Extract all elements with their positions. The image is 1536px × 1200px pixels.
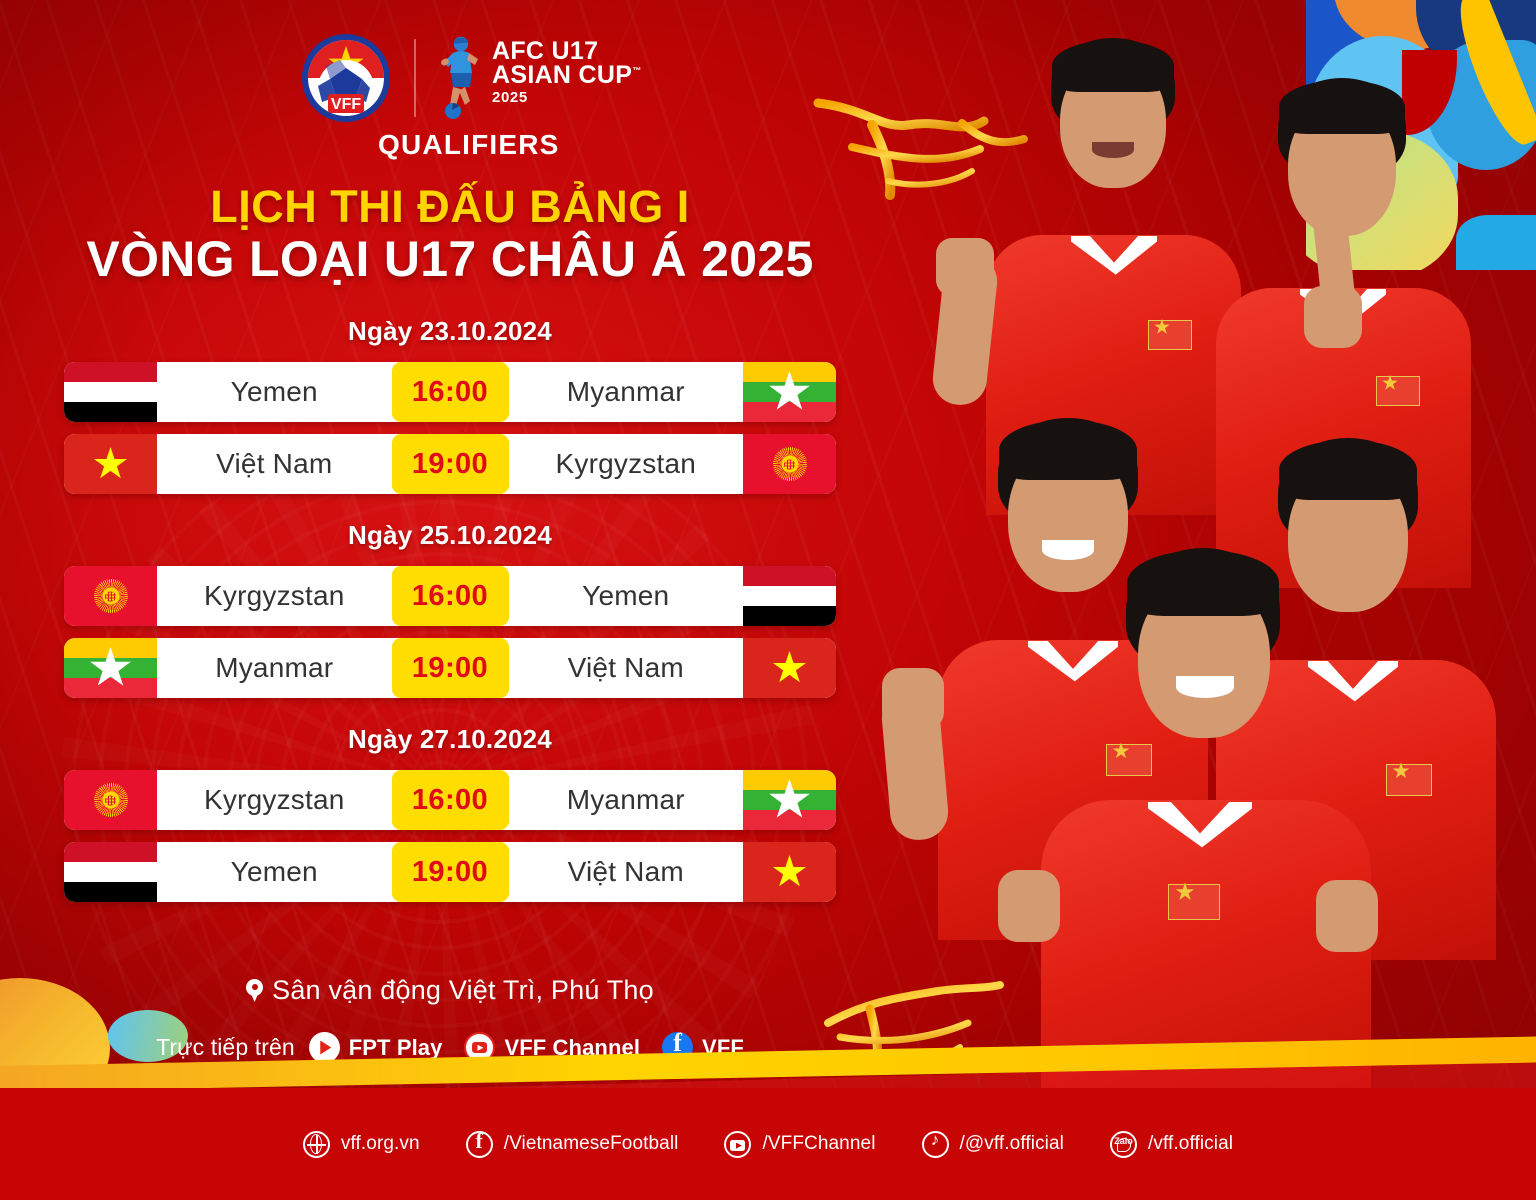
youtube-icon xyxy=(724,1131,751,1158)
match-time: 16:00 xyxy=(392,362,509,422)
fpt-play-icon xyxy=(309,1032,340,1063)
match-time: 19:00 xyxy=(392,842,509,902)
day-group: Ngày 25.10.2024Kyrgyzstan16:00YemenMyanm… xyxy=(0,520,900,698)
afc-logo-block: AFC U17 ASIAN CUP™ 2025 xyxy=(438,35,642,121)
away-team-name: Yemen xyxy=(509,566,744,626)
away-team-name: Kyrgyzstan xyxy=(509,434,744,494)
flag-band-red xyxy=(743,810,836,830)
day-group: Ngày 23.10.2024Yemen16:00MyanmarViệt Nam… xyxy=(0,316,900,494)
broadcast-lead: Trực tiếp trên xyxy=(156,1034,295,1061)
match-row[interactable]: Yemen19:00Việt Nam xyxy=(64,842,836,902)
match-row[interactable]: Myanmar19:00Việt Nam xyxy=(64,638,836,698)
match-row[interactable]: Kyrgyzstan16:00Yemen xyxy=(64,566,836,626)
tiktok-icon: ♪ xyxy=(922,1131,949,1158)
facebook-icon: f xyxy=(466,1131,493,1158)
flag-band-white xyxy=(64,862,157,882)
title-line2: VÒNG LOẠI U17 CHÂU Á 2025 xyxy=(0,232,900,286)
home-team-flag-yemen xyxy=(64,362,157,422)
afc-qualifiers-label: QUALIFIERS xyxy=(0,129,900,161)
team-players-photo xyxy=(876,0,1536,1098)
match-date-label: Ngày 25.10.2024 xyxy=(0,520,900,551)
footer-social-bar: vff.org.vnf/VietnameseFootball/VFFChanne… xyxy=(0,1088,1536,1200)
flag-band-red xyxy=(64,842,157,862)
home-team-flag-kyrgyzstan xyxy=(64,566,157,626)
flag-sun-core-icon xyxy=(102,792,119,809)
home-team-flag-myanmar xyxy=(64,638,157,698)
match-time: 16:00 xyxy=(392,770,509,830)
logo-row: VFF xyxy=(0,0,900,124)
flag-band-white xyxy=(64,382,157,402)
vff-logo-text: VFF xyxy=(331,96,361,113)
away-team-name: Myanmar xyxy=(509,362,744,422)
match-date-label: Ngày 23.10.2024 xyxy=(0,316,900,347)
day-group: Ngày 27.10.2024Kyrgyzstan16:00MyanmarYem… xyxy=(0,724,900,902)
location-pin-icon xyxy=(246,979,263,1003)
venue-text: Sân vận động Việt Trì, Phú Thọ xyxy=(272,975,654,1005)
title-line1: LỊCH THI ĐẤU BẢNG I xyxy=(0,183,900,232)
away-team-name: Việt Nam xyxy=(509,638,744,698)
match-time: 16:00 xyxy=(392,566,509,626)
afc-trademark: ™ xyxy=(632,66,641,76)
flag-band-red xyxy=(743,566,836,586)
logo-divider xyxy=(414,39,416,117)
flag-band-black xyxy=(743,606,836,626)
afc-text-block: AFC U17 ASIAN CUP™ 2025 xyxy=(492,35,642,108)
away-team-flag-kyrgyzstan xyxy=(743,434,836,494)
vff-logo-icon: VFF xyxy=(300,32,392,124)
away-team-flag-vietnam xyxy=(743,638,836,698)
home-team-name: Kyrgyzstan xyxy=(157,770,392,830)
away-team-flag-vietnam xyxy=(743,842,836,902)
footer-link-label: /VFFChannel xyxy=(762,1133,875,1155)
away-team-flag-myanmar xyxy=(743,362,836,422)
match-schedule: Ngày 23.10.2024Yemen16:00MyanmarViệt Nam… xyxy=(0,316,900,928)
match-time: 19:00 xyxy=(392,638,509,698)
away-team-name: Myanmar xyxy=(509,770,744,830)
home-team-flag-kyrgyzstan xyxy=(64,770,157,830)
zalo-icon: Zalo xyxy=(1110,1131,1137,1158)
flag-band-red xyxy=(64,362,157,382)
home-team-name: Yemen xyxy=(157,842,392,902)
footer-link-label: /vff.official xyxy=(1148,1133,1233,1155)
home-team-name: Kyrgyzstan xyxy=(157,566,392,626)
flag-sun-core-icon xyxy=(781,456,798,473)
footer-link-label: /@vff.official xyxy=(960,1133,1064,1155)
afc-year: 2025 xyxy=(492,88,642,108)
footer-link-label: /VietnameseFootball xyxy=(504,1133,679,1155)
flag-band-red xyxy=(743,402,836,422)
away-team-flag-yemen xyxy=(743,566,836,626)
flag-sun-core-icon xyxy=(102,588,119,605)
footer-link[interactable]: ♪/@vff.official xyxy=(922,1131,1064,1158)
footer-link-label: vff.org.vn xyxy=(341,1133,420,1155)
header: VFF xyxy=(0,0,900,286)
venue-info: Sân vận động Việt Trì, Phú Thọ xyxy=(0,975,900,1006)
globe-icon xyxy=(303,1131,330,1158)
footer-link[interactable]: Zalo/vff.official xyxy=(1110,1131,1233,1158)
match-row[interactable]: Việt Nam19:00Kyrgyzstan xyxy=(64,434,836,494)
home-team-name: Myanmar xyxy=(157,638,392,698)
page-title: LỊCH THI ĐẤU BẢNG I VÒNG LOẠI U17 CHÂU Á… xyxy=(0,161,900,286)
away-team-name: Việt Nam xyxy=(509,842,744,902)
afc-line1: AFC U17 xyxy=(492,39,642,63)
match-row[interactable]: Yemen16:00Myanmar xyxy=(64,362,836,422)
away-team-flag-myanmar xyxy=(743,770,836,830)
flag-band-black xyxy=(64,402,157,422)
footer-link[interactable]: /VFFChannel xyxy=(724,1131,875,1158)
home-team-flag-yemen xyxy=(64,842,157,902)
home-team-name: Việt Nam xyxy=(157,434,392,494)
match-time: 19:00 xyxy=(392,434,509,494)
broadcast-channel-label: FPT Play xyxy=(349,1035,443,1061)
footer-link[interactable]: f/VietnameseFootball xyxy=(466,1131,679,1158)
match-date-label: Ngày 27.10.2024 xyxy=(0,724,900,755)
flag-band-red xyxy=(64,678,157,698)
home-team-flag-vietnam xyxy=(64,434,157,494)
afc-line2: ASIAN CUP xyxy=(492,61,632,89)
flag-band-black xyxy=(64,882,157,902)
match-row[interactable]: Kyrgyzstan16:00Myanmar xyxy=(64,770,836,830)
flag-band-white xyxy=(743,586,836,606)
afc-player-silhouette-icon xyxy=(438,35,482,121)
footer-link[interactable]: vff.org.vn xyxy=(303,1131,420,1158)
home-team-name: Yemen xyxy=(157,362,392,422)
